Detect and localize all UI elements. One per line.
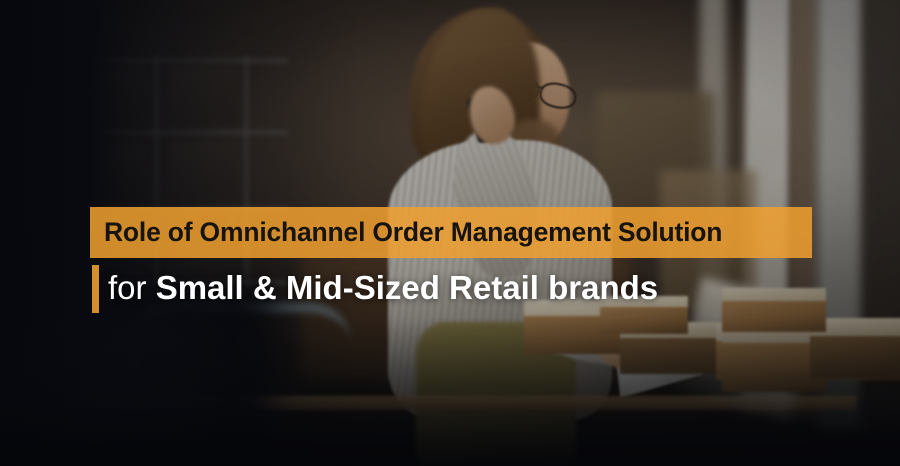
headline-line-1: Role of Omnichannel Order Management Sol… (104, 207, 814, 258)
hero-banner: Role of Omnichannel Order Management Sol… (0, 0, 900, 466)
headline-line-2-prefix: for (108, 269, 156, 306)
headline-line-2: for Small & Mid-Sized Retail brands (108, 263, 658, 313)
foreground-blur (0, 286, 270, 466)
accent-bar (92, 265, 99, 313)
headline-line-2-bold: Small & Mid-Sized Retail brands (156, 269, 658, 306)
cardboard-box (722, 288, 826, 332)
